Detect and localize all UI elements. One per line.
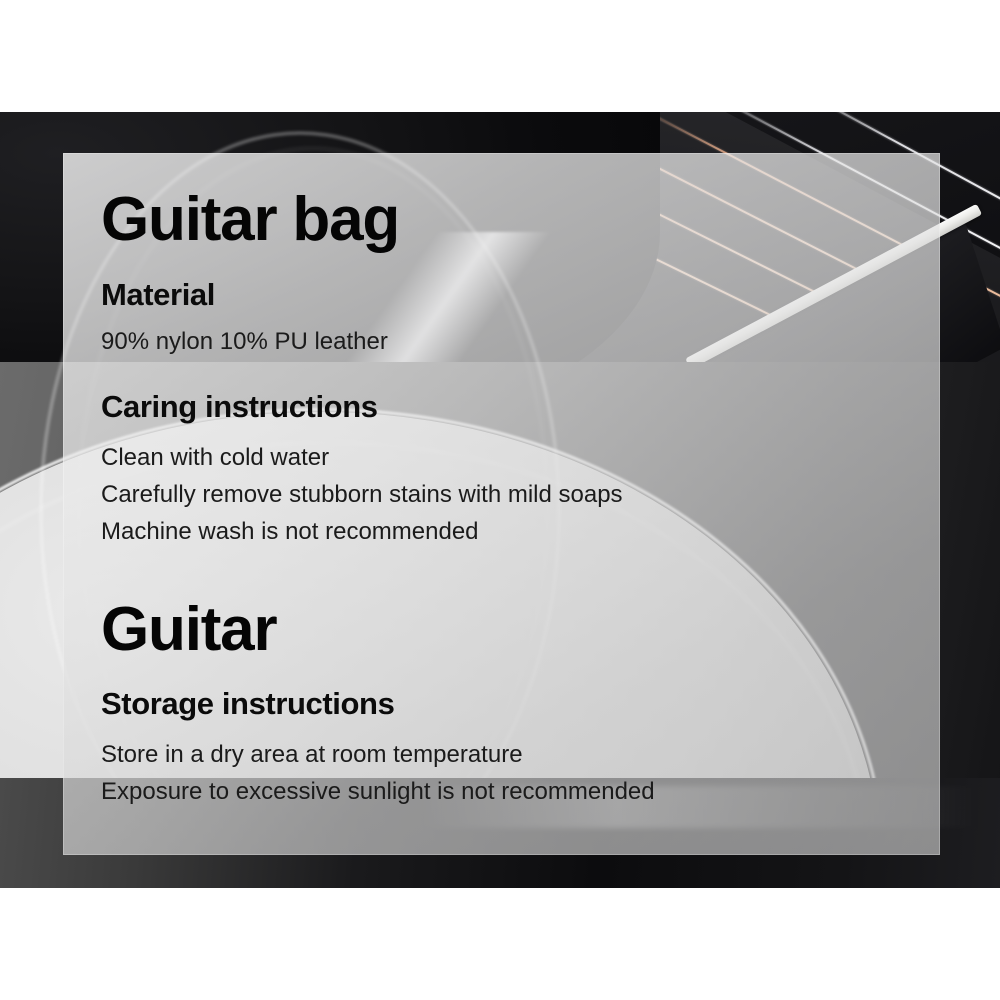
heading-storage-instructions: Storage instructions bbox=[101, 688, 394, 719]
caring-instruction-line: Machine wash is not recommended bbox=[101, 520, 479, 544]
heading-caring-instructions: Caring instructions bbox=[101, 391, 378, 422]
heading-material: Material bbox=[101, 279, 215, 310]
page-root: Guitar bag Material 90% nylon 10% PU lea… bbox=[0, 0, 1000, 1000]
material-value: 90% nylon 10% PU leather bbox=[101, 330, 388, 354]
section-title-guitar-bag: Guitar bag bbox=[101, 189, 399, 251]
caring-instruction-line: Carefully remove stubborn stains with mi… bbox=[101, 483, 623, 507]
section-title-guitar: Guitar bbox=[101, 599, 276, 661]
info-panel: Guitar bag Material 90% nylon 10% PU lea… bbox=[63, 153, 940, 855]
caring-instruction-line: Clean with cold water bbox=[101, 446, 329, 470]
storage-instruction-line: Store in a dry area at room temperature bbox=[101, 743, 523, 767]
storage-instruction-line: Exposure to excessive sunlight is not re… bbox=[101, 780, 655, 804]
